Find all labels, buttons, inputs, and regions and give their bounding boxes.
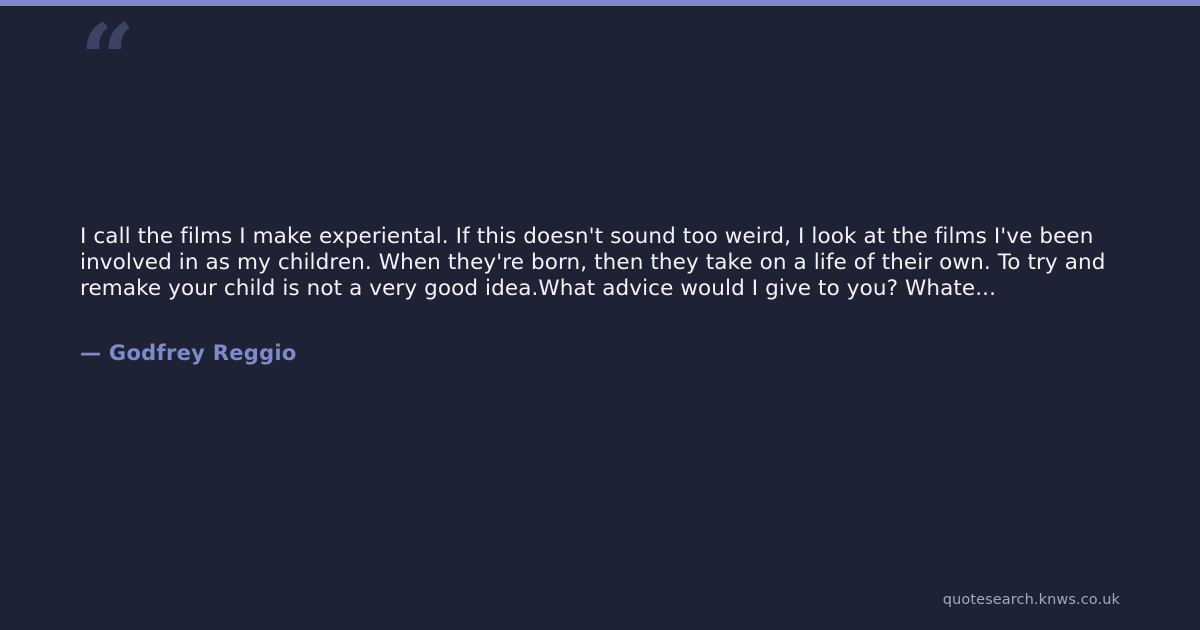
source-site-url: quotesearch.knws.co.uk xyxy=(943,592,1120,608)
opening-quote-mark-icon: “ xyxy=(80,12,133,108)
quote-card: “ I call the films I make experiental. I… xyxy=(0,0,1200,630)
quote-content: I call the films I make experiental. If … xyxy=(80,224,1120,365)
top-accent-bar xyxy=(0,0,1200,6)
quote-attribution: — Godfrey Reggio xyxy=(80,341,1120,365)
quote-text: I call the films I make experiental. If … xyxy=(80,224,1120,303)
